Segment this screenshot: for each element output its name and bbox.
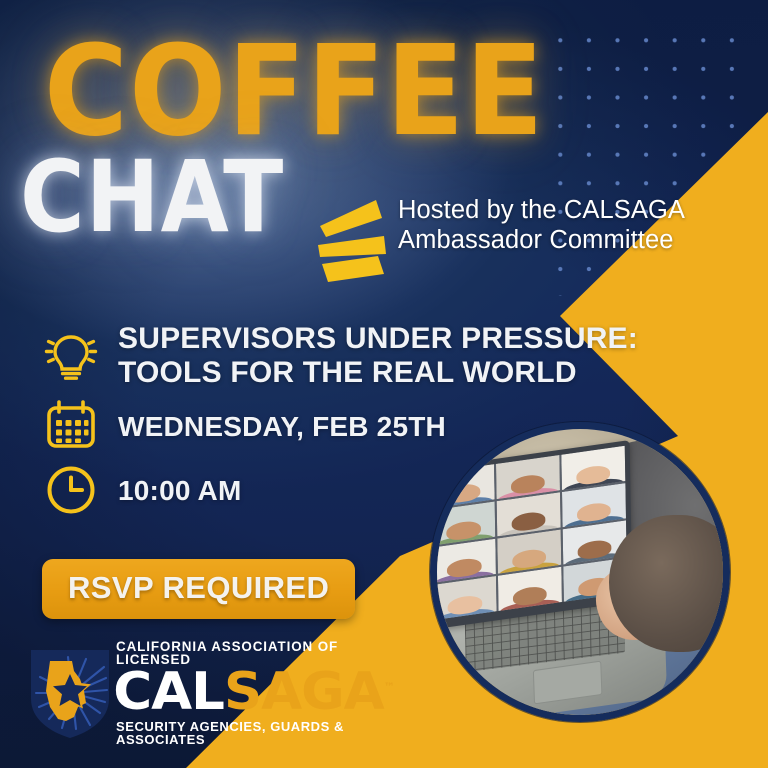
headline-block: COFFEE	[44, 34, 514, 133]
video-call-tile	[497, 567, 561, 611]
video-call-tile	[496, 455, 560, 499]
hosted-by-text: Hosted by the CALSAGA Ambassador Committ…	[398, 196, 685, 256]
video-call-tile	[561, 446, 625, 490]
headline-chat-row: CHAT	[20, 152, 272, 229]
lightbulb-icon	[40, 328, 118, 384]
info-time-text: 10:00 AM	[118, 475, 242, 506]
logo-trademark-symbol: ™	[384, 680, 395, 693]
video-call-tile	[497, 529, 561, 573]
logo-wordmark: CALSAGA™	[113, 669, 395, 717]
logo-wordmark-cal: CAL	[113, 662, 224, 722]
burst-rays-icon	[316, 196, 392, 284]
video-call-tile	[430, 464, 494, 508]
laptop-video-call-photo	[430, 422, 730, 722]
headline-coffee: COFFEE	[44, 34, 542, 149]
info-row-topic: SUPERVISORS UNDER PRESSURE: TOOLS FOR TH…	[40, 322, 740, 389]
info-date-text: WEDNESDAY, FEB 25TH	[118, 411, 446, 442]
video-call-tile	[431, 539, 495, 583]
logo-tagline-bottom: SECURITY AGENCIES, GUARDS & ASSOCIATES	[116, 720, 392, 746]
calsaga-shield-icon	[28, 645, 112, 741]
info-topic-text: SUPERVISORS UNDER PRESSURE: TOOLS FOR TH…	[118, 322, 638, 389]
clock-icon	[40, 463, 118, 517]
video-call-tile	[432, 576, 496, 620]
video-call-tile	[562, 483, 626, 527]
calendar-icon	[40, 399, 118, 453]
calsaga-logo: CALIFORNIA ASSOCIATION OF LICENSED CALSA…	[28, 643, 380, 743]
video-call-tile	[431, 501, 495, 545]
logo-wordmark-saga: SAGA	[224, 662, 384, 722]
poster-canvas: COFFEE CHAT Hosted by the CALSAGA Ambass…	[0, 0, 768, 768]
headline-chat: CHAT	[20, 152, 284, 243]
rsvp-required-button[interactable]: RSVP REQUIRED	[42, 559, 355, 619]
video-call-tile	[496, 492, 560, 536]
